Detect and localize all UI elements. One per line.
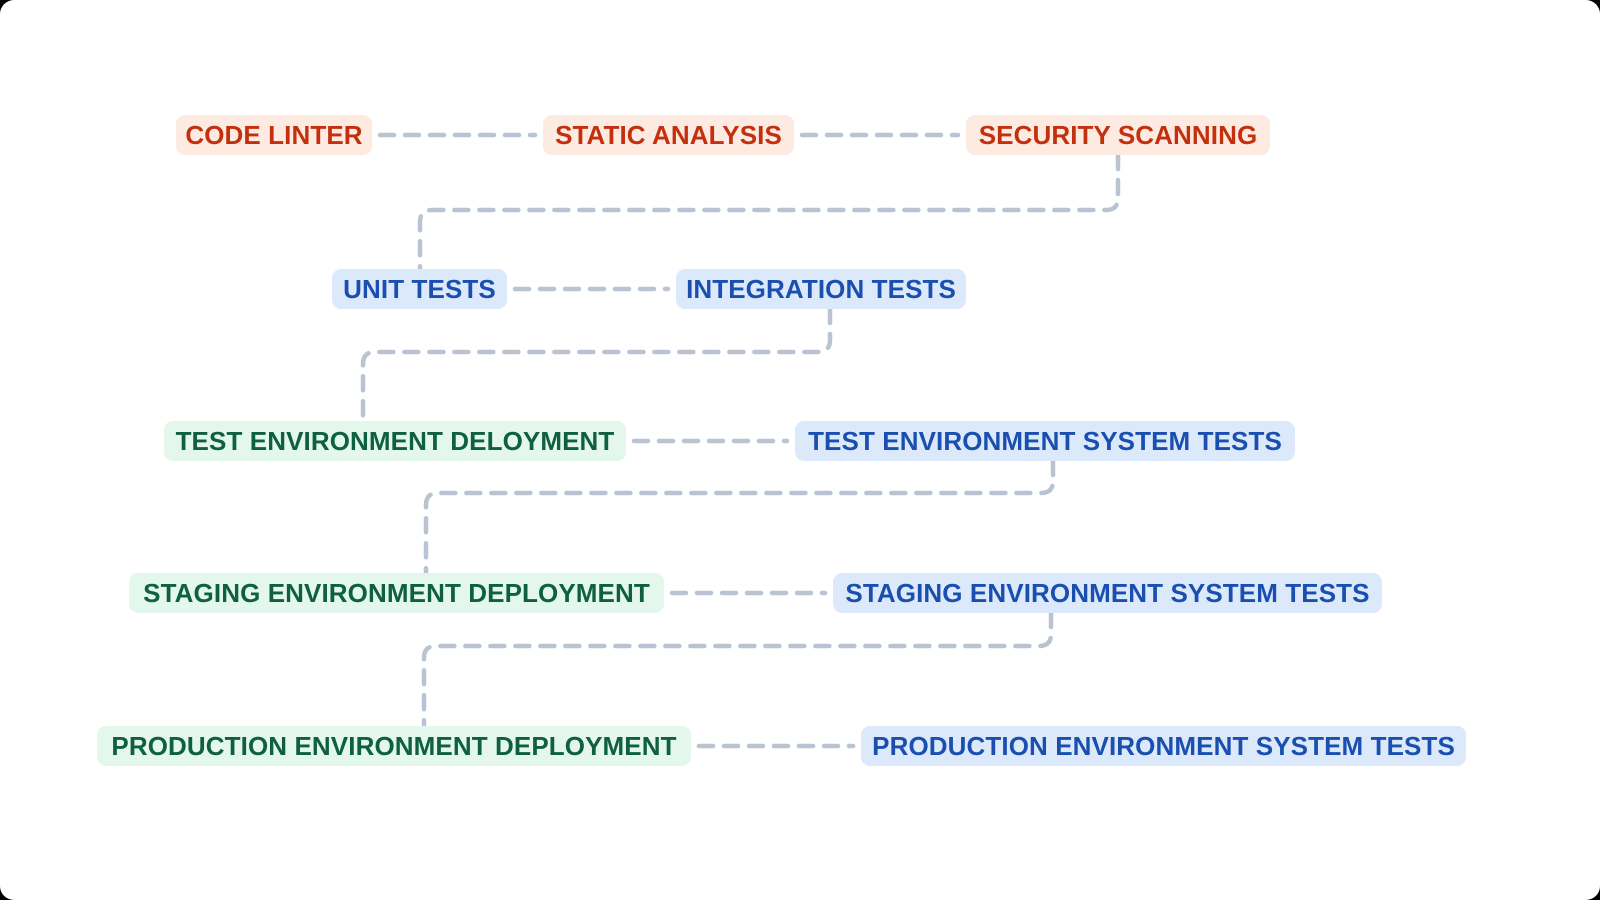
pipeline-node-production-environment-system-tests[interactable]: PRODUCTION ENVIRONMENT SYSTEM TESTS [861,726,1466,766]
pipeline-node-label: TEST ENVIRONMENT SYSTEM TESTS [808,428,1282,454]
pipeline-node-label: CODE LINTER [185,122,362,148]
connector-elbow [420,155,1118,269]
connector-elbow [426,461,1053,573]
pipeline-node-label: PRODUCTION ENVIRONMENT SYSTEM TESTS [872,733,1455,759]
pipeline-node-production-environment-deployment[interactable]: PRODUCTION ENVIRONMENT DEPLOYMENT [97,726,691,766]
pipeline-node-test-environment-system-tests[interactable]: TEST ENVIRONMENT SYSTEM TESTS [795,421,1295,461]
pipeline-node-test-environment-deloyment[interactable]: TEST ENVIRONMENT DELOYMENT [164,421,626,461]
pipeline-node-code-linter[interactable]: CODE LINTER [176,115,372,155]
pipeline-node-unit-tests[interactable]: UNIT TESTS [332,269,507,309]
connector-elbow [424,613,1051,726]
pipeline-node-label: STAGING ENVIRONMENT SYSTEM TESTS [845,580,1369,606]
pipeline-node-label: PRODUCTION ENVIRONMENT DEPLOYMENT [111,733,676,759]
pipeline-node-label: INTEGRATION TESTS [686,276,956,302]
pipeline-node-static-analysis[interactable]: STATIC ANALYSIS [543,115,794,155]
pipeline-node-staging-environment-deployment[interactable]: STAGING ENVIRONMENT DEPLOYMENT [129,573,664,613]
diagram-canvas: CODE LINTERSTATIC ANALYSISSECURITY SCANN… [0,0,1600,900]
pipeline-node-label: TEST ENVIRONMENT DELOYMENT [176,428,615,454]
pipeline-node-security-scanning[interactable]: SECURITY SCANNING [966,115,1270,155]
connector-elbow [363,309,830,421]
pipeline-node-label: UNIT TESTS [343,276,496,302]
pipeline-node-label: STAGING ENVIRONMENT DEPLOYMENT [143,580,650,606]
pipeline-node-label: STATIC ANALYSIS [555,122,782,148]
pipeline-node-staging-environment-system-tests[interactable]: STAGING ENVIRONMENT SYSTEM TESTS [833,573,1382,613]
pipeline-node-label: SECURITY SCANNING [979,122,1258,148]
pipeline-node-integration-tests[interactable]: INTEGRATION TESTS [676,269,966,309]
